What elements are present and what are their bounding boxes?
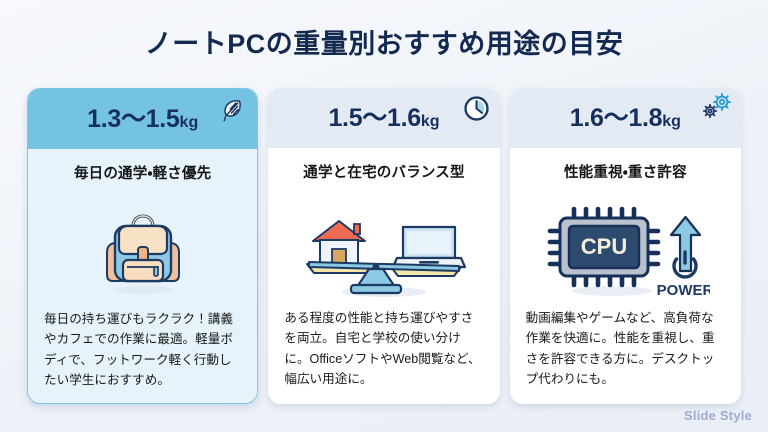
feather-icon [219,97,245,130]
backpack-illustration [28,195,257,305]
weight-value: 1.6〜1.8 [570,104,662,132]
cpu-power-illustration: CPU POWER [510,194,741,304]
card-header: 1.5〜1.6kg [268,88,499,148]
card-subtitle: 毎日の通学・軽さ優先 [28,149,257,195]
cpu-label: CPU [581,234,627,259]
weight-card-light[interactable]: 1.3〜1.5kg 毎日の通学・軽さ優先 [27,88,258,404]
weight-value: 1.5〜1.6 [328,104,420,132]
card-header: 1.3〜1.5kg [28,89,257,149]
weight-range: 1.3〜1.5kg [87,107,198,132]
weight-unit: kg [662,113,681,130]
balance-scale-illustration [268,194,499,304]
weight-unit: kg [421,113,440,130]
card-subtitle: 性能重視・重さ許容 [510,148,741,194]
page-title: ノートPCの重量別おすすめ用途の目安 [0,22,768,61]
card-subtitle: 通学と在宅のバランス型 [268,148,499,194]
gears-icon [701,91,735,126]
card-body-text: ある程度の性能と持ち運びやすさを両立。自宅と学校の使い分けに。Officeソフト… [268,304,499,404]
watermark: Slide Style [684,408,752,423]
weight-unit: kg [180,114,199,131]
weight-card-balanced[interactable]: 1.5〜1.6kg 通学と在宅のバランス型 [268,88,499,404]
cards-row: 1.3〜1.5kg 毎日の通学・軽さ優先 [27,88,741,406]
clock-icon [463,95,490,127]
card-body-text: 毎日の持ち運びもラクラク！講義やカフェでの作業に最適。軽量ボディで、フットワーク… [28,305,257,403]
weight-range: 1.6〜1.8kg [570,106,681,131]
weight-value: 1.3〜1.5 [87,105,179,133]
card-body-text: 動画編集やゲームなど、高負荷な作業を快適に。性能を重視し、重さを許容できる方に。… [510,304,741,404]
weight-range: 1.5〜1.6kg [328,106,439,131]
card-header: 1.6〜1.8kg [510,88,741,148]
weight-card-performance[interactable]: 1.6〜1.8kg [510,88,741,404]
power-label: POWER [657,282,710,299]
